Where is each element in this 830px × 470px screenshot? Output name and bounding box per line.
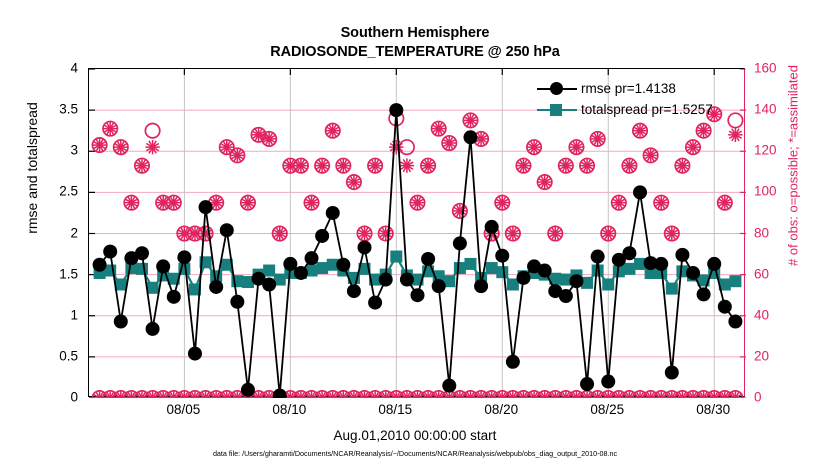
- y-tick-right-2: 40: [754, 307, 814, 322]
- title-line-2: RADIOSONDE_TEMPERATURE @ 250 hPa: [0, 43, 830, 62]
- figure-canvas: Southern Hemisphere RADIOSONDE_TEMPERATU…: [0, 0, 830, 470]
- y-tick-left-1: 0.5: [18, 348, 78, 363]
- y-tick-right-8: 160: [754, 61, 814, 76]
- chart-legend[interactable]: rmse pr=1.4138 totalspread pr=1.5257: [534, 76, 734, 120]
- y-tick-left-3: 1.5: [18, 266, 78, 281]
- legend-label-rmse: rmse pr=1.4138: [581, 81, 676, 96]
- x-tick-4: 08/25: [572, 402, 642, 417]
- x-tick-3: 08/20: [466, 402, 536, 417]
- x-tick-0: 08/05: [148, 402, 218, 417]
- y-tick-right-6: 120: [754, 143, 814, 158]
- legend-item-totalspread[interactable]: totalspread pr=1.5257: [535, 98, 713, 120]
- y-tick-right-5: 100: [754, 184, 814, 199]
- y-tick-left-4: 2: [18, 225, 78, 240]
- x-tick-1: 08/10: [254, 402, 324, 417]
- y-tick-right-0: 0: [754, 390, 814, 405]
- y-tick-right-3: 60: [754, 266, 814, 281]
- y-tick-left-6: 3: [18, 143, 78, 158]
- y-tick-right-4: 80: [754, 225, 814, 240]
- y-tick-left-5: 2.5: [18, 184, 78, 199]
- legend-label-totalspread: totalspread pr=1.5257: [581, 102, 713, 117]
- y-tick-right-7: 140: [754, 102, 814, 117]
- title-line-1: Southern Hemisphere: [0, 24, 830, 43]
- y-tick-left-7: 3.5: [18, 102, 78, 117]
- legend-marker-rmse: [535, 78, 579, 98]
- y-tick-right-1: 20: [754, 348, 814, 363]
- x-axis-label: Aug.01,2010 00:00:00 start: [0, 428, 830, 443]
- y-tick-left-2: 1: [18, 307, 78, 322]
- legend-item-rmse[interactable]: rmse pr=1.4138: [535, 77, 676, 99]
- data-file-caption: data file: /Users/gharamti/Documents/NCA…: [0, 449, 830, 458]
- chart-title: Southern Hemisphere RADIOSONDE_TEMPERATU…: [0, 24, 830, 62]
- y-tick-left-0: 0: [18, 390, 78, 405]
- x-tick-5: 08/30: [678, 402, 748, 417]
- series-rmse: [93, 103, 743, 398]
- legend-marker-totalspread: [535, 99, 579, 119]
- y-tick-left-8: 4: [18, 61, 78, 76]
- x-tick-2: 08/15: [360, 402, 430, 417]
